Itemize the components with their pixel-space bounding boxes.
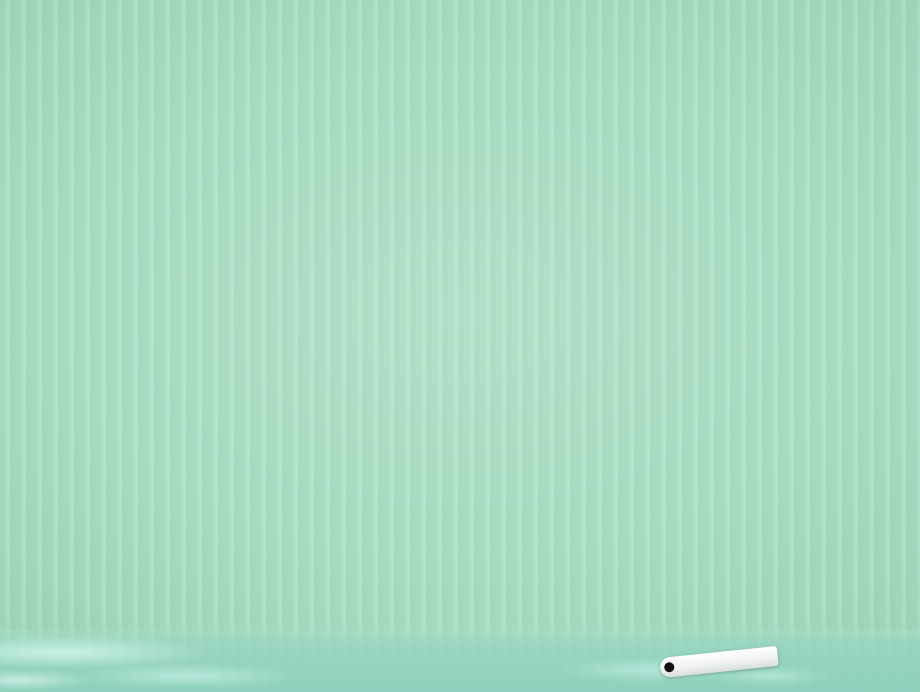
photo-collage-canvas bbox=[0, 0, 920, 692]
pen-tip-icon bbox=[664, 662, 675, 673]
background-vignette bbox=[0, 0, 920, 692]
background-water-reflection-left bbox=[0, 620, 350, 692]
